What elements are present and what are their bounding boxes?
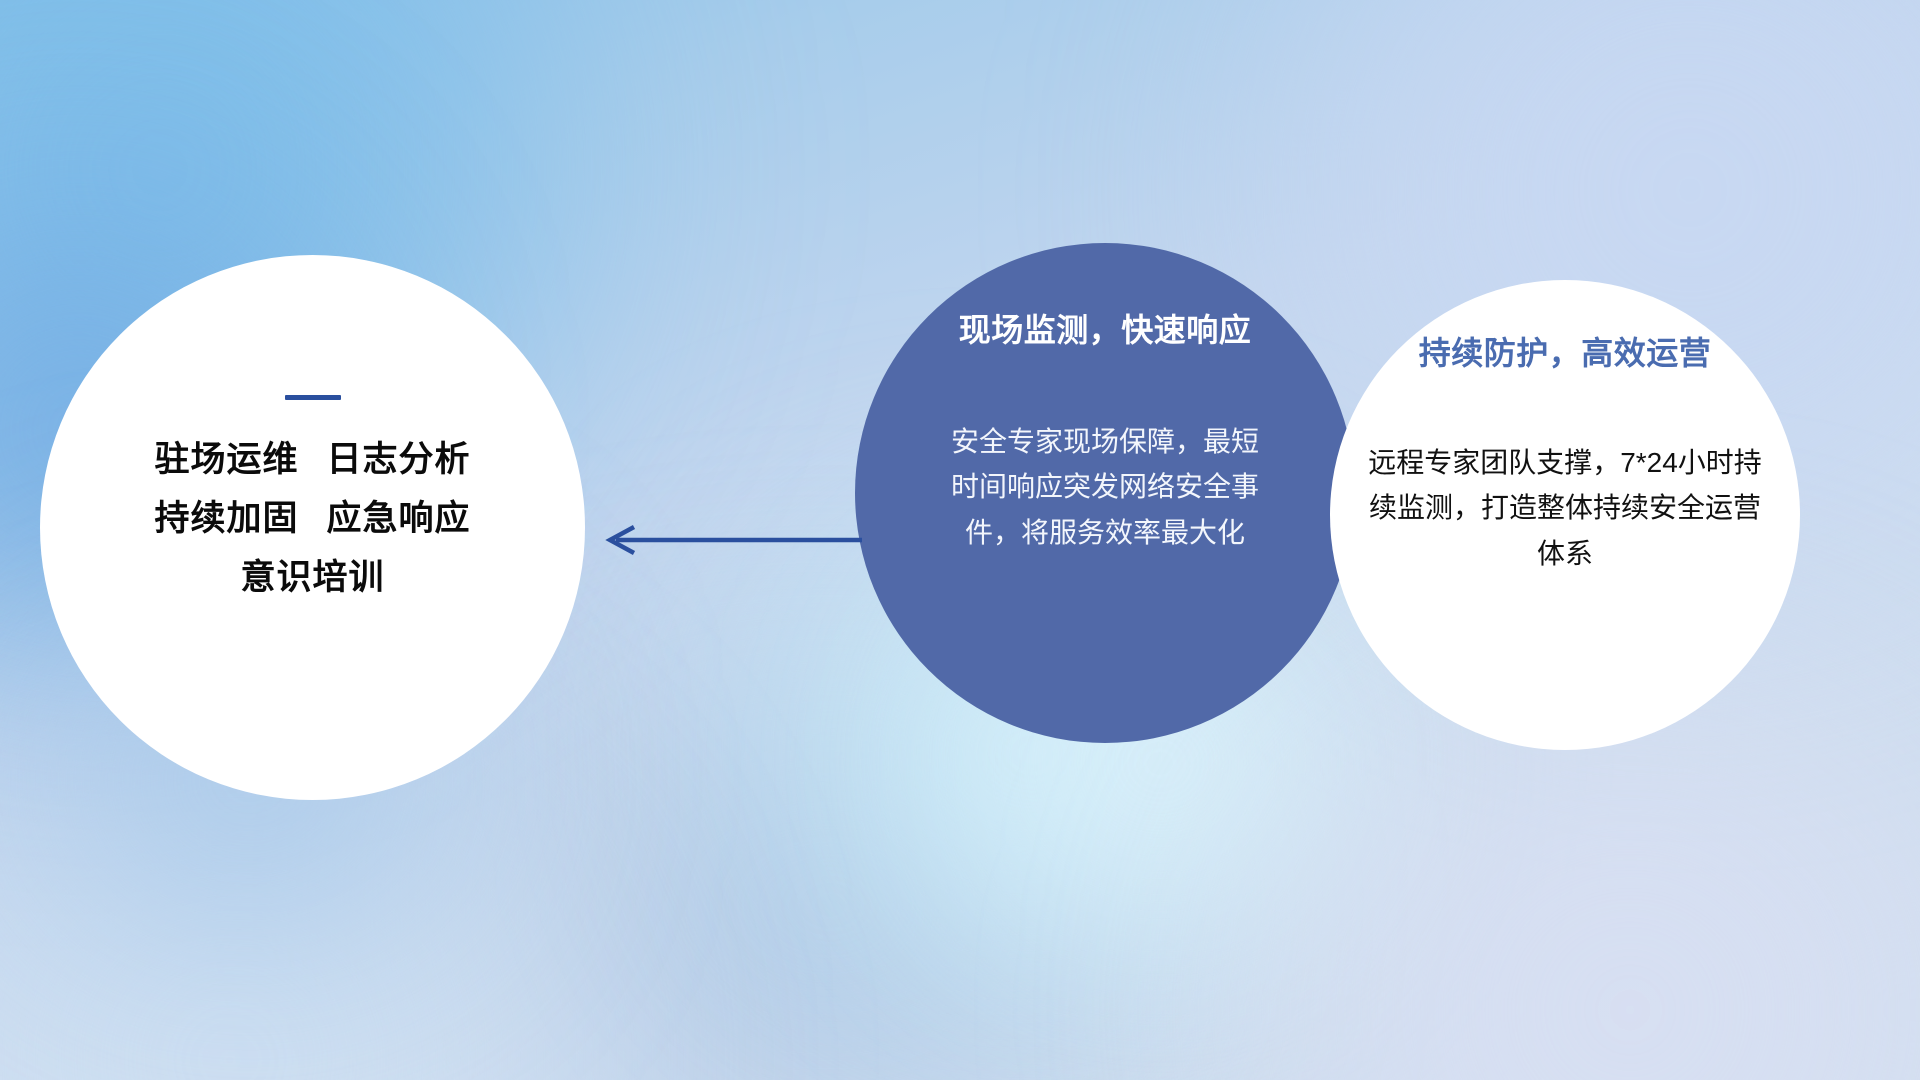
right-circle-body: 远程专家团队支撑，7*24小时持续监测，打造整体持续安全运营体系	[1360, 440, 1770, 576]
flow-arrow-icon	[600, 522, 868, 558]
service-label-chixujiagu: 持续加固	[154, 499, 298, 538]
service-label-zhuchangyunwei: 驻场运维	[154, 440, 298, 479]
right-continuous-protection-circle[interactable]: 持续防护，高效运营 远程专家团队支撑，7*24小时持续监测，打造整体持续安全运营…	[1330, 280, 1800, 750]
middle-circle-title: 现场监测，快速响应	[959, 305, 1252, 351]
arrow-left-icon	[600, 522, 868, 558]
right-circle-title: 持续防护，高效运营	[1419, 328, 1712, 374]
middle-onsite-monitoring-circle[interactable]: 现场监测，快速响应 安全专家现场保障，最短时间响应突发网络安全事件，将服务效率最…	[855, 243, 1355, 743]
middle-circle-body: 安全专家现场保障，最短时间响应突发网络安全事件，将服务效率最大化	[944, 419, 1266, 555]
left-services-list: 驻场运维日志分析 持续加固应急响应 意识培训	[154, 442, 470, 596]
slide-canvas: 驻场运维日志分析 持续加固应急响应 意识培训 现场监测，快速响应 安全专家现场保…	[0, 0, 1920, 1080]
service-label-rizhifenxi: 日志分析	[327, 440, 471, 479]
list-item: 持续加固应急响应	[154, 501, 470, 538]
list-item: 驻场运维日志分析	[154, 442, 470, 479]
service-label-yishipeixun: 意识培训	[240, 558, 384, 597]
service-label-yingjixiangying: 应急响应	[327, 499, 471, 538]
left-services-circle[interactable]: 驻场运维日志分析 持续加固应急响应 意识培训	[40, 255, 585, 800]
list-item: 意识培训	[240, 560, 384, 597]
divider-dash-icon	[285, 395, 341, 400]
